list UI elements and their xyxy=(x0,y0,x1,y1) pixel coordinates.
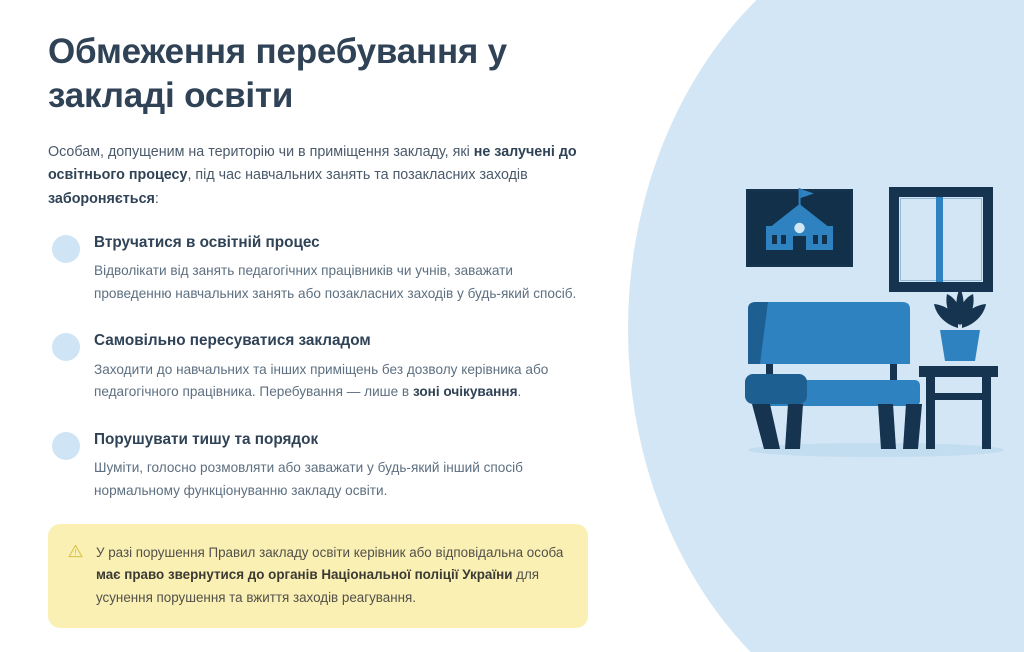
rule-description: Заходити до навчальних та інших приміщен… xyxy=(94,359,594,404)
list-item: Втручатися в освітній процес Відволікати… xyxy=(48,233,596,305)
callout-part-1: У разі порушення Правил закладу освіти к… xyxy=(96,545,563,560)
rule-title: Самовільно пересуватися закладом xyxy=(94,331,596,352)
rule-title: Втручатися в освітній процес xyxy=(94,233,596,254)
page-title: Обмеження перебування у закладі освіти xyxy=(48,30,548,118)
bullet-circle-icon xyxy=(52,333,80,361)
intro-text-part-1: Особам, допущеним на територію чи в прим… xyxy=(48,144,474,160)
bullet-circle-icon xyxy=(52,235,80,263)
intro-text-part-3: : xyxy=(155,191,159,207)
list-item: Порушувати тишу та порядок Шуміти, голос… xyxy=(48,430,596,502)
potted-plant xyxy=(934,288,986,361)
bench xyxy=(745,302,922,449)
side-table xyxy=(919,366,998,449)
content-column: Обмеження перебування у закладі освіти О… xyxy=(48,30,596,628)
warning-triangle-icon xyxy=(68,544,83,563)
intro-text-part-2: , під час навчальних занять та позакласн… xyxy=(187,167,527,183)
waiting-area-illustration xyxy=(730,178,1022,470)
bullet-circle-icon xyxy=(52,432,80,460)
school-picture-frame xyxy=(746,188,853,267)
slide-root: Обмеження перебування у закладі освіти О… xyxy=(0,0,1024,652)
window xyxy=(889,187,993,292)
rule-description: Шуміти, голосно розмовляти або заважати … xyxy=(94,457,594,502)
warning-callout: У разі порушення Правил закладу освіти к… xyxy=(48,524,588,628)
rule-description: Відволікати від занять педагогічних прац… xyxy=(94,260,594,305)
list-item: Самовільно пересуватися закладом Заходит… xyxy=(48,331,596,403)
prohibited-actions-list: Втручатися в освітній процес Відволікати… xyxy=(48,233,596,502)
callout-bold: має право звернутися до органів Націонал… xyxy=(96,567,512,582)
rule-description-bold: зоні очікування xyxy=(413,384,518,399)
rule-title: Порушувати тишу та порядок xyxy=(94,430,596,451)
warning-callout-text: У разі порушення Правил закладу освіти к… xyxy=(96,542,566,609)
rule-description-part-2: . xyxy=(518,384,522,399)
intro-paragraph: Особам, допущеним на територію чи в прим… xyxy=(48,141,588,210)
intro-bold-2: забороняється xyxy=(48,191,155,207)
